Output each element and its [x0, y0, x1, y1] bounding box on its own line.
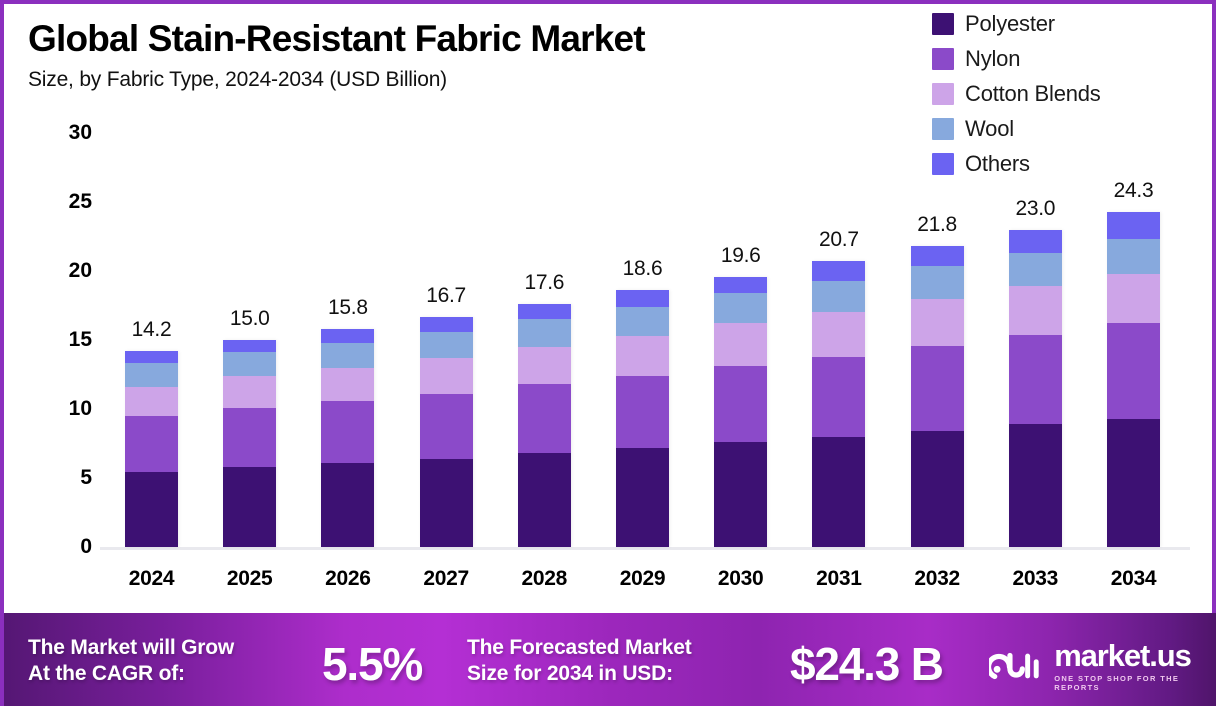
- bar-segment-wool[interactable]: [911, 266, 964, 299]
- bar-segment-others[interactable]: [125, 351, 178, 363]
- bar-segment-nylon[interactable]: [125, 416, 178, 473]
- bar-segment-nylon[interactable]: [911, 346, 964, 432]
- bar-value-label: 14.2: [132, 318, 172, 342]
- bar-value-label: 18.6: [623, 257, 663, 281]
- bar-value-label: 16.7: [426, 284, 466, 308]
- stacked-bar[interactable]: [223, 340, 276, 547]
- bar-segment-cotton-blends[interactable]: [518, 347, 571, 384]
- bars-layer: 14.2202415.0202515.8202616.7202717.62028…: [4, 4, 1216, 617]
- x-axis-tick-label: 2025: [227, 567, 273, 591]
- stacked-bar[interactable]: [911, 246, 964, 547]
- stacked-bar[interactable]: [616, 290, 669, 547]
- bar-segment-others[interactable]: [518, 304, 571, 319]
- bar-group[interactable]: 23.02033: [1009, 133, 1062, 547]
- bar-segment-nylon[interactable]: [616, 376, 669, 448]
- cagr-label-line-2: At the CAGR of:: [28, 661, 234, 687]
- bar-segment-nylon[interactable]: [321, 401, 374, 463]
- stacked-bar[interactable]: [518, 304, 571, 547]
- bar-segment-polyester[interactable]: [321, 463, 374, 547]
- bar-segment-wool[interactable]: [616, 307, 669, 336]
- market-us-logo-icon: [989, 646, 1044, 686]
- bar-segment-polyester[interactable]: [1009, 424, 1062, 547]
- forecast-label: The Forecasted Market Size for 2034 in U…: [467, 635, 692, 688]
- bar-value-label: 23.0: [1015, 197, 1055, 221]
- x-axis-tick-label: 2029: [620, 567, 666, 591]
- bar-segment-nylon[interactable]: [420, 394, 473, 459]
- bar-segment-nylon[interactable]: [1107, 323, 1160, 418]
- bar-value-label: 15.8: [328, 296, 368, 320]
- bar-segment-wool[interactable]: [518, 319, 571, 347]
- bar-value-label: 17.6: [524, 271, 564, 295]
- bar-segment-others[interactable]: [1107, 212, 1160, 240]
- stacked-bar[interactable]: [714, 277, 767, 547]
- bar-group[interactable]: 14.22024: [125, 133, 178, 547]
- bar-group[interactable]: 21.82032: [911, 133, 964, 547]
- x-axis-tick-label: 2028: [522, 567, 568, 591]
- plot-area: 051015202530 14.2202415.0202515.8202616.…: [4, 4, 1216, 617]
- bar-segment-cotton-blends[interactable]: [125, 387, 178, 416]
- bar-segment-wool[interactable]: [223, 352, 276, 375]
- brand-logo[interactable]: market.us ONE STOP SHOP FOR THE REPORTS: [989, 640, 1216, 692]
- bar-group[interactable]: 16.72027: [420, 133, 473, 547]
- forecast-label-line-1: The Forecasted Market: [467, 635, 692, 661]
- bar-segment-polyester[interactable]: [125, 472, 178, 547]
- stacked-bar[interactable]: [321, 329, 374, 547]
- logo-tagline: ONE STOP SHOP FOR THE REPORTS: [1054, 674, 1216, 692]
- cagr-label-line-1: The Market will Grow: [28, 635, 234, 661]
- bar-segment-nylon[interactable]: [223, 408, 276, 467]
- bar-value-label: 20.7: [819, 228, 859, 252]
- stacked-bar[interactable]: [1107, 212, 1160, 547]
- bar-segment-wool[interactable]: [321, 343, 374, 368]
- bar-segment-polyester[interactable]: [1107, 419, 1160, 547]
- bar-segment-cotton-blends[interactable]: [420, 358, 473, 394]
- bar-group[interactable]: 24.32034: [1107, 133, 1160, 547]
- bar-segment-wool[interactable]: [125, 363, 178, 386]
- bar-group[interactable]: 15.02025: [223, 133, 276, 547]
- bar-segment-cotton-blends[interactable]: [223, 376, 276, 408]
- bar-segment-nylon[interactable]: [518, 384, 571, 453]
- logo-text: market.us ONE STOP SHOP FOR THE REPORTS: [1054, 640, 1216, 692]
- x-axis-tick-label: 2027: [423, 567, 469, 591]
- bar-segment-wool[interactable]: [1107, 239, 1160, 274]
- x-axis-tick-label: 2024: [129, 567, 175, 591]
- bar-group[interactable]: 15.82026: [321, 133, 374, 547]
- bar-segment-nylon[interactable]: [1009, 335, 1062, 425]
- bar-segment-cotton-blends[interactable]: [616, 336, 669, 376]
- bar-segment-others[interactable]: [321, 329, 374, 343]
- bar-segment-cotton-blends[interactable]: [321, 368, 374, 401]
- forecast-value: $24.3 B: [790, 637, 943, 691]
- logo-wordmark: market.us: [1054, 640, 1216, 671]
- bar-segment-others[interactable]: [420, 317, 473, 332]
- bar-segment-polyester[interactable]: [911, 431, 964, 547]
- infographic-root: Global Stain-Resistant Fabric Market Siz…: [0, 0, 1216, 706]
- bar-segment-others[interactable]: [911, 246, 964, 265]
- bar-segment-others[interactable]: [714, 277, 767, 294]
- bar-group[interactable]: 19.62030: [714, 133, 767, 547]
- bar-segment-cotton-blends[interactable]: [714, 323, 767, 366]
- bar-segment-cotton-blends[interactable]: [812, 312, 865, 356]
- bar-group[interactable]: 17.62028: [518, 133, 571, 547]
- x-axis-tick-label: 2026: [325, 567, 371, 591]
- bar-segment-wool[interactable]: [714, 293, 767, 323]
- bar-value-label: 24.3: [1114, 179, 1154, 203]
- stacked-bar[interactable]: [125, 351, 178, 547]
- x-axis-tick-label: 2030: [718, 567, 764, 591]
- x-axis-tick-label: 2034: [1111, 567, 1157, 591]
- bar-segment-wool[interactable]: [1009, 253, 1062, 286]
- bar-segment-polyester[interactable]: [714, 442, 767, 547]
- bar-value-label: 21.8: [917, 213, 957, 237]
- bar-segment-polyester[interactable]: [616, 448, 669, 547]
- bar-segment-wool[interactable]: [420, 332, 473, 358]
- bar-group[interactable]: 20.72031: [812, 133, 865, 547]
- bar-segment-polyester[interactable]: [518, 453, 571, 547]
- bar-segment-others[interactable]: [616, 290, 669, 307]
- bar-segment-others[interactable]: [1009, 230, 1062, 253]
- forecast-label-line-2: Size for 2034 in USD:: [467, 661, 692, 687]
- bar-value-label: 19.6: [721, 244, 761, 268]
- bar-segment-nylon[interactable]: [812, 357, 865, 437]
- bar-segment-cotton-blends[interactable]: [911, 299, 964, 346]
- x-axis-tick-label: 2033: [1013, 567, 1059, 591]
- stacked-bar[interactable]: [812, 261, 865, 547]
- bar-group[interactable]: 18.62029: [616, 133, 669, 547]
- x-axis-tick-label: 2032: [914, 567, 960, 591]
- bar-segment-polyester[interactable]: [420, 459, 473, 547]
- bar-segment-wool[interactable]: [812, 281, 865, 313]
- bar-segment-cotton-blends[interactable]: [1107, 274, 1160, 324]
- stacked-bar[interactable]: [1009, 230, 1062, 547]
- bar-segment-others[interactable]: [812, 261, 865, 280]
- x-axis-tick-label: 2031: [816, 567, 862, 591]
- bottom-banner: The Market will Grow At the CAGR of: 5.5…: [4, 613, 1216, 706]
- cagr-value: 5.5%: [322, 637, 422, 691]
- stacked-bar[interactable]: [420, 317, 473, 547]
- bar-segment-nylon[interactable]: [714, 366, 767, 442]
- bar-value-label: 15.0: [230, 307, 270, 331]
- bar-segment-others[interactable]: [223, 340, 276, 352]
- cagr-label: The Market will Grow At the CAGR of:: [28, 635, 234, 688]
- bar-segment-polyester[interactable]: [812, 437, 865, 547]
- bar-segment-cotton-blends[interactable]: [1009, 286, 1062, 334]
- bar-segment-polyester[interactable]: [223, 467, 276, 547]
